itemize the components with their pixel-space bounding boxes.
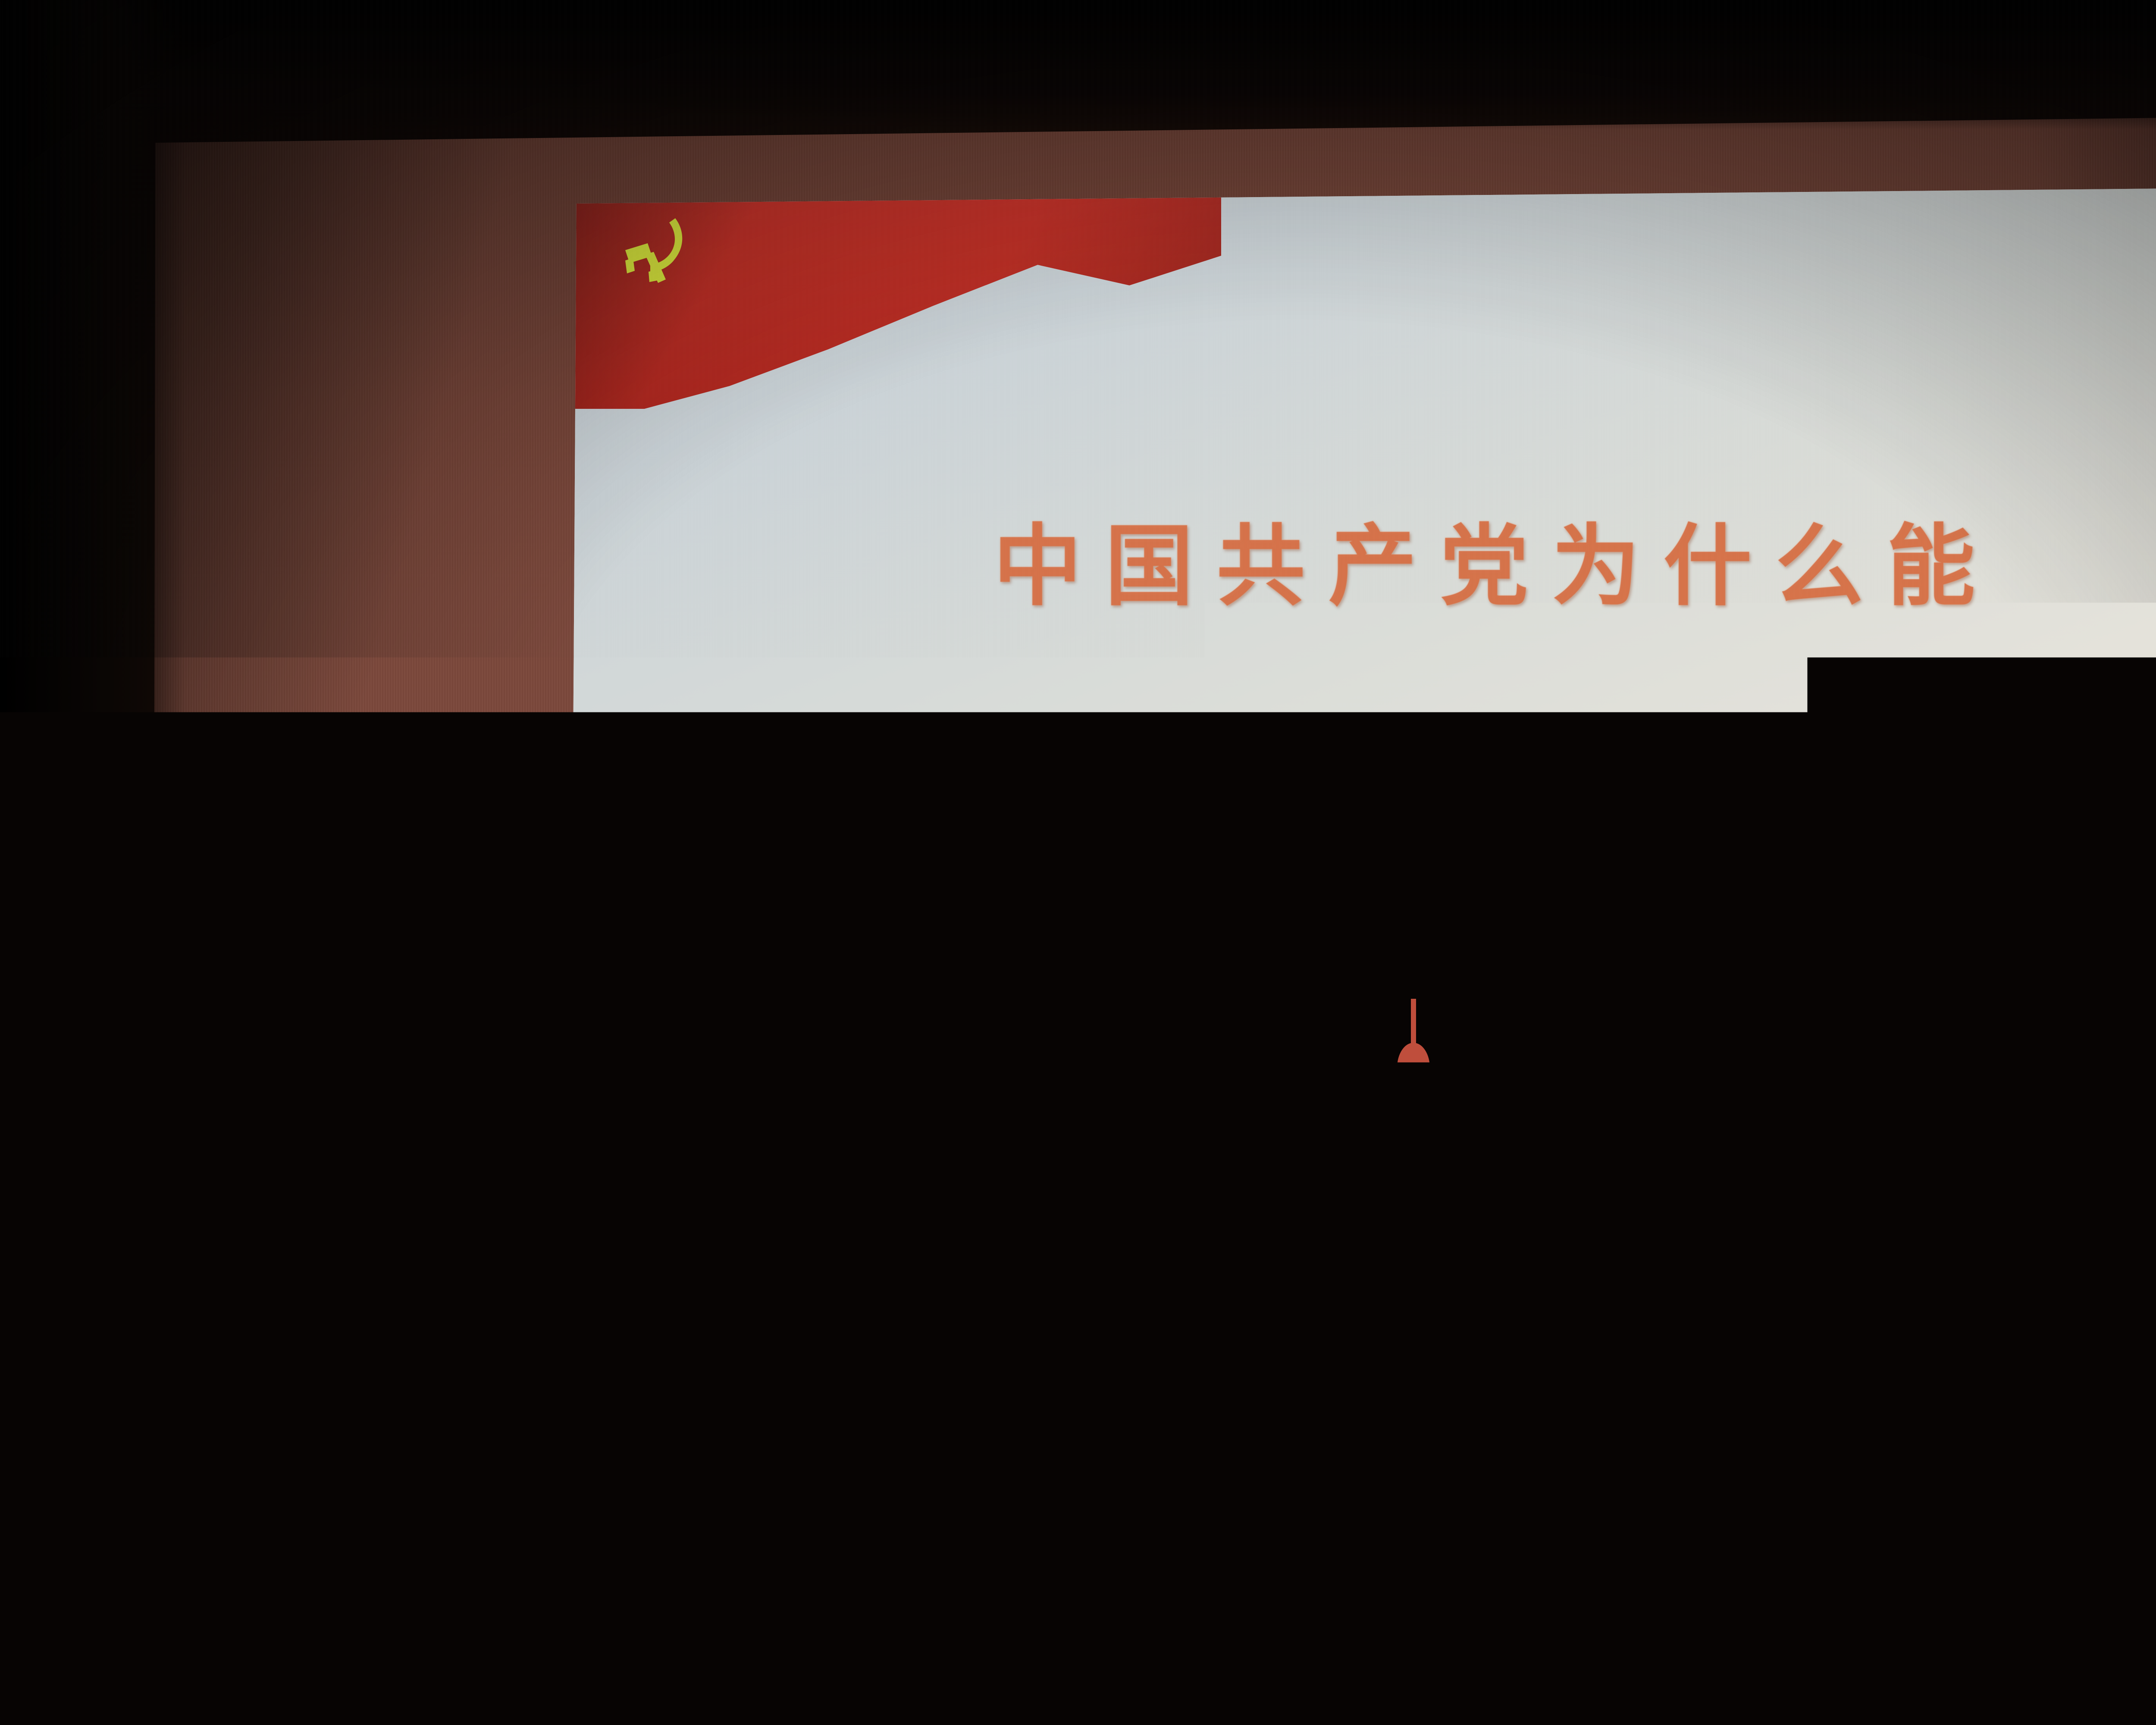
seat-1 xyxy=(17,1621,147,1725)
presenter-hand xyxy=(771,1015,822,1066)
seat-5 xyxy=(1143,1613,1285,1725)
audience-seating-area xyxy=(0,1596,2156,1725)
bottle-cap xyxy=(997,1069,1009,1080)
glasses-bridge xyxy=(793,975,806,977)
subtitle-organization: 传媒与法学院党委 xyxy=(1298,796,1607,844)
glasses-right-lens xyxy=(806,968,842,987)
slide-title: 中国共产党为什么能 xyxy=(570,495,2156,623)
left-curtain xyxy=(0,0,185,1423)
seat-8 xyxy=(1867,1621,2018,1725)
monitor-handle-icon xyxy=(727,1455,778,1531)
auditorium-scene: 中国共产党为什么能 传媒与法学院党委 胡鹿鸣 xyxy=(0,0,2156,1725)
glasses-left-lens xyxy=(757,968,793,987)
stage-floor-shadow-right xyxy=(1940,1345,2156,1544)
ceiling-dark-band xyxy=(0,0,2156,129)
seat-3 xyxy=(811,1613,953,1725)
shanghai-skyline-illustration xyxy=(1282,938,2156,1264)
hammer-and-sickle-icon xyxy=(621,215,699,286)
university-emblem-icon: 浙大宁波理工学院 NINGBOTECH UNIVERSITY xyxy=(790,1227,874,1311)
seat-6 xyxy=(1501,1621,1656,1725)
podium-top-surface xyxy=(707,1106,1026,1182)
subtitle-presenter-name: 胡鹿鸣 xyxy=(1393,849,1512,896)
stage-monitor-speaker xyxy=(575,1399,939,1602)
seat-4 xyxy=(975,1609,1121,1725)
seat-7 xyxy=(1682,1617,1837,1725)
seat-2 xyxy=(164,1617,293,1725)
